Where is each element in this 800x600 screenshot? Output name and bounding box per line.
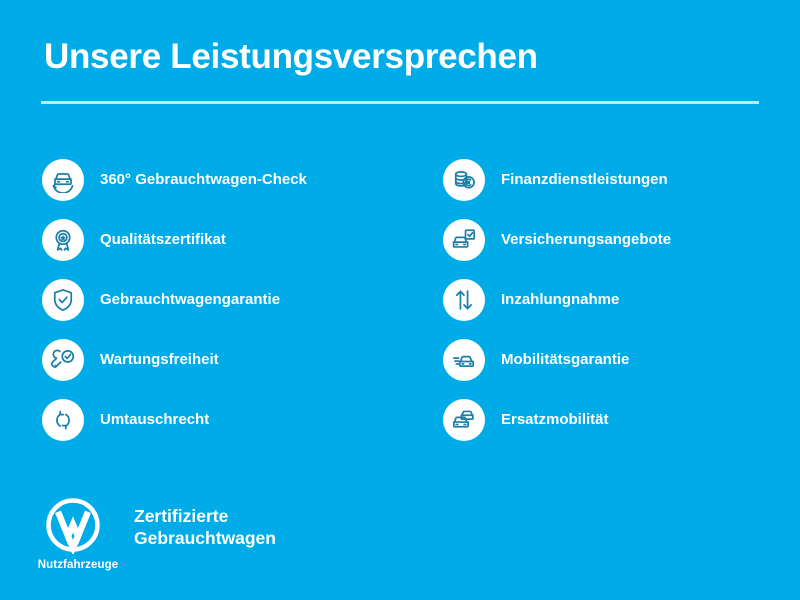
feature-list-right: Finanzdienstleistungen Versicherungsange… — [443, 159, 671, 441]
two-cars-icon — [443, 399, 485, 441]
feature-item-warranty: Gebrauchtwagengarantie — [42, 279, 307, 321]
car-motion-icon — [443, 339, 485, 381]
slide-canvas: Unsere Leistungsversprechen 360° Gebrauc… — [0, 0, 800, 600]
shield-check-icon — [42, 279, 84, 321]
exchange-arrows-icon — [42, 399, 84, 441]
wrench-check-icon — [42, 339, 84, 381]
feature-label: Wartungsfreiheit — [100, 351, 219, 369]
feature-item-insurance-offers: Versicherungsangebote — [443, 219, 671, 261]
feature-label: Qualitätszertifikat — [100, 231, 226, 249]
feature-label: Versicherungsangebote — [501, 231, 671, 249]
feature-item-maintenance-free: Wartungsfreiheit — [42, 339, 307, 381]
brand-claim: Zertifizierte Gebrauchtwagen — [134, 505, 276, 550]
arrows-up-down-icon — [443, 279, 485, 321]
title-divider — [41, 101, 759, 104]
car-360-check-icon — [42, 159, 84, 201]
feature-item-replacement-mobility: Ersatzmobilität — [443, 399, 671, 441]
feature-list-left: 360° Gebrauchtwagen-Check Qualitätszerti… — [42, 159, 307, 441]
volkswagen-roundel-icon — [44, 496, 102, 554]
feature-label: Inzahlungnahme — [501, 291, 619, 309]
brand-mark: Nutzfahrzeuge — [30, 496, 126, 571]
feature-item-exchange-right: Umtauschrecht — [42, 399, 307, 441]
feature-label: Ersatzmobilität — [501, 411, 609, 429]
coins-euro-icon — [443, 159, 485, 201]
feature-label: Gebrauchtwagengarantie — [100, 291, 280, 309]
feature-item-quality-certificate: Qualitätszertifikat — [42, 219, 307, 261]
brand-claim-line-2: Gebrauchtwagen — [134, 527, 276, 549]
feature-item-mobility-guarantee: Mobilitätsgarantie — [443, 339, 671, 381]
brand-sub-label: Nutzfahrzeuge — [30, 559, 126, 571]
car-document-check-icon — [443, 219, 485, 261]
brand-lockup: Nutzfahrzeuge Zertifizierte Gebrauchtwag… — [30, 496, 276, 571]
feature-label: Finanzdienstleistungen — [501, 171, 668, 189]
page-title: Unsere Leistungsversprechen — [44, 38, 538, 77]
feature-item-trade-in: Inzahlungnahme — [443, 279, 671, 321]
feature-label: Mobilitätsgarantie — [501, 351, 629, 369]
feature-label: Umtauschrecht — [100, 411, 209, 429]
award-rosette-star-icon — [42, 219, 84, 261]
brand-claim-line-1: Zertifizierte — [134, 505, 276, 527]
feature-label: 360° Gebrauchtwagen-Check — [100, 171, 307, 189]
feature-item-360-check: 360° Gebrauchtwagen-Check — [42, 159, 307, 201]
feature-item-financial-services: Finanzdienstleistungen — [443, 159, 671, 201]
